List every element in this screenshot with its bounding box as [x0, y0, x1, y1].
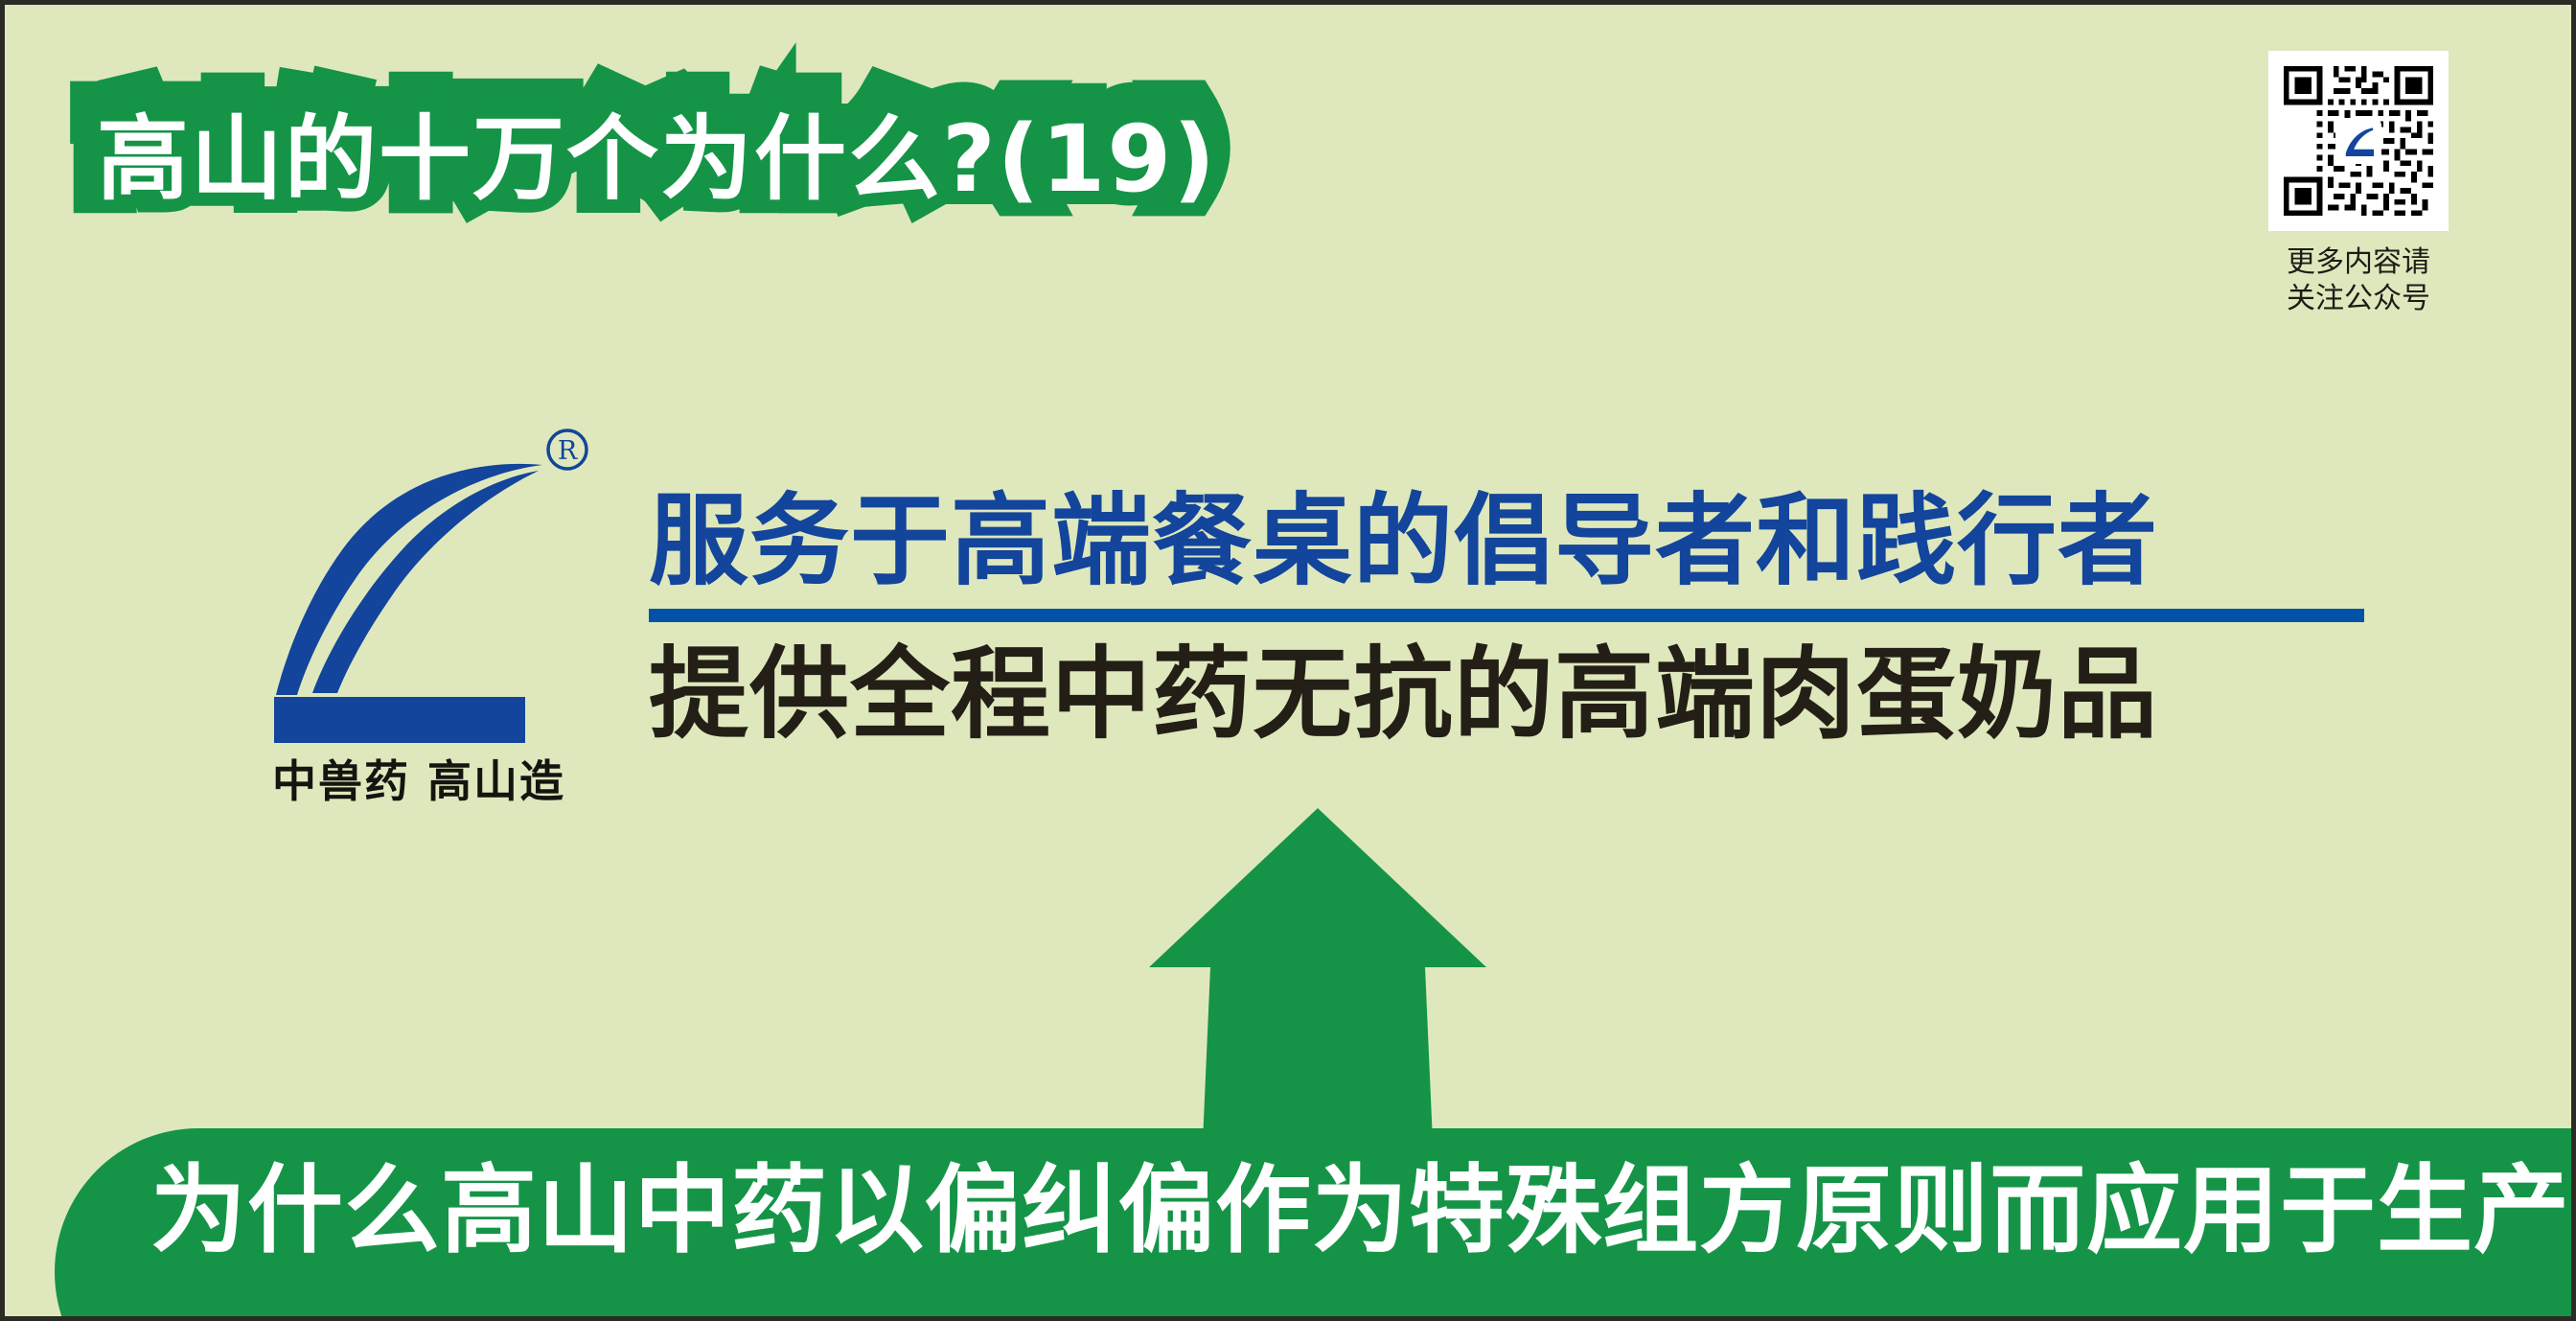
poster-root: 高山的十万个为什么?(19) 高山的十万个为什么?(19) [0, 0, 2576, 1321]
slogan-primary: 服务于高端餐桌的倡导者和践行者 [649, 482, 2364, 599]
qr-code[interactable] [2268, 51, 2449, 231]
brand-logo-caption: 中兽药 高山造 [218, 747, 620, 810]
svg-text:R: R [558, 436, 578, 466]
slogan-secondary: 提供全程中药无抗的高端肉蛋奶品 [649, 636, 2364, 753]
slogan-block: 服务于高端餐桌的倡导者和践行者 提供全程中药无抗的高端肉蛋奶品 [649, 482, 2364, 753]
qr-caption: 更多内容请 关注公众号 [2259, 244, 2458, 317]
slogan-divider [649, 609, 2364, 622]
question-text: 为什么高山中药以偏纠偏作为特殊组方原则而应用于生产？ [150, 1153, 2576, 1268]
page-title-text: 高山的十万个为什么?(19) [97, 97, 1217, 221]
qr-block: 更多内容请 关注公众号 [2259, 51, 2458, 317]
qr-center-logo [2335, 118, 2381, 164]
brand-swoosh-icon [2339, 122, 2378, 160]
arrow-up-icon [1145, 802, 1490, 1147]
page-title: 高山的十万个为什么?(19) 高山的十万个为什么?(19) [97, 97, 1285, 279]
brand-logo-mark: R [241, 417, 596, 743]
question-banner: 为什么高山中药以偏纠偏作为特殊组方原则而应用于生产？ [55, 1128, 2576, 1321]
brand-swoosh-logo: R [241, 417, 596, 743]
brand-logo: R 中兽药 高山造 [218, 417, 620, 810]
registered-mark-icon: R [548, 430, 586, 469]
